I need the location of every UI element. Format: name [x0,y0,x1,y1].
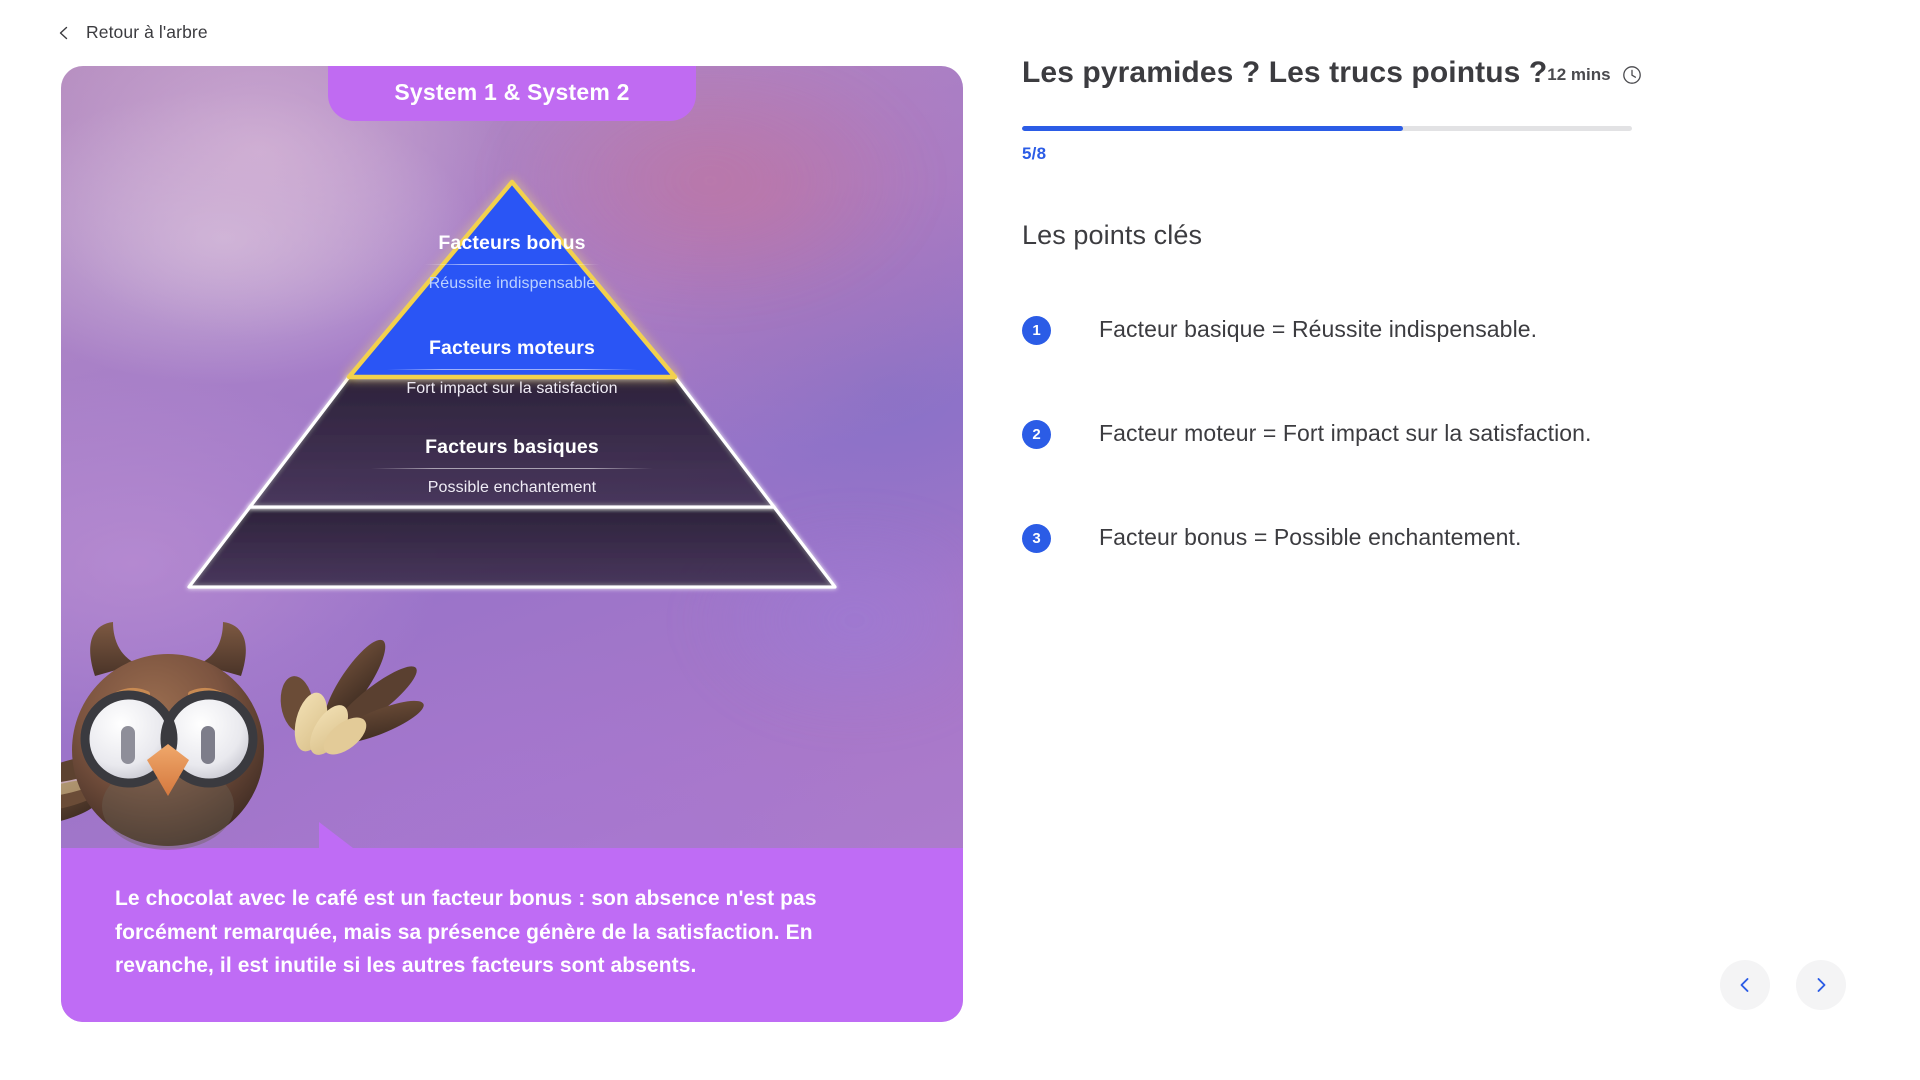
chevron-left-icon [56,25,72,41]
slide-title-pill: System 1 & System 2 [328,66,696,121]
lesson-media-card: System 1 & System 2 [61,66,963,1022]
duration-indicator: 12 mins [1547,65,1641,85]
point-number-badge: 2 [1022,420,1051,449]
pyramid-shape [61,162,963,682]
progress-count: 5/8 [1022,144,1046,164]
caption-tail [319,822,353,848]
lesson-detail-panel: Les pyramides ? Les trucs pointus ? 12 m… [1022,0,1920,1080]
mascot-caption-text: Le chocolat avec le café est un facteur … [115,882,909,982]
point-number-badge: 1 [1022,316,1051,345]
point-number-badge: 3 [1022,524,1051,553]
duration-label: 12 mins [1547,65,1610,85]
list-item: 2 Facteur moteur = Fort impact sur la sa… [1022,418,1920,449]
back-to-tree-link[interactable]: Retour à l'arbre [56,22,208,43]
previous-slide-button[interactable] [1720,960,1770,1010]
clock-icon [1622,65,1642,85]
pyramid-diagram: Facteurs bonus Réussite indispensable Fa… [61,162,963,682]
point-text: Facteur bonus = Possible enchantement. [1099,522,1522,553]
list-item: 1 Facteur basique = Réussite indispensab… [1022,314,1920,345]
mascot-caption-box: Le chocolat avec le café est un facteur … [61,848,963,1022]
section-title: Les points clés [1022,220,1202,251]
chevron-right-icon [1812,976,1830,994]
key-points-list: 1 Facteur basique = Réussite indispensab… [1022,314,1920,553]
panel-header: Les pyramides ? Les trucs pointus ? 12 m… [1022,56,1920,90]
page-title: Les pyramides ? Les trucs pointus ? [1022,56,1547,90]
point-text: Facteur basique = Réussite indispensable… [1099,314,1537,345]
progress-bar-fill [1022,126,1403,131]
back-to-tree-label: Retour à l'arbre [86,22,208,43]
chevron-left-icon [1736,976,1754,994]
progress-bar [1022,126,1632,131]
slide-navigation [1720,960,1846,1010]
point-text: Facteur moteur = Fort impact sur la sati… [1099,418,1592,449]
next-slide-button[interactable] [1796,960,1846,1010]
list-item: 3 Facteur bonus = Possible enchantement. [1022,522,1920,553]
